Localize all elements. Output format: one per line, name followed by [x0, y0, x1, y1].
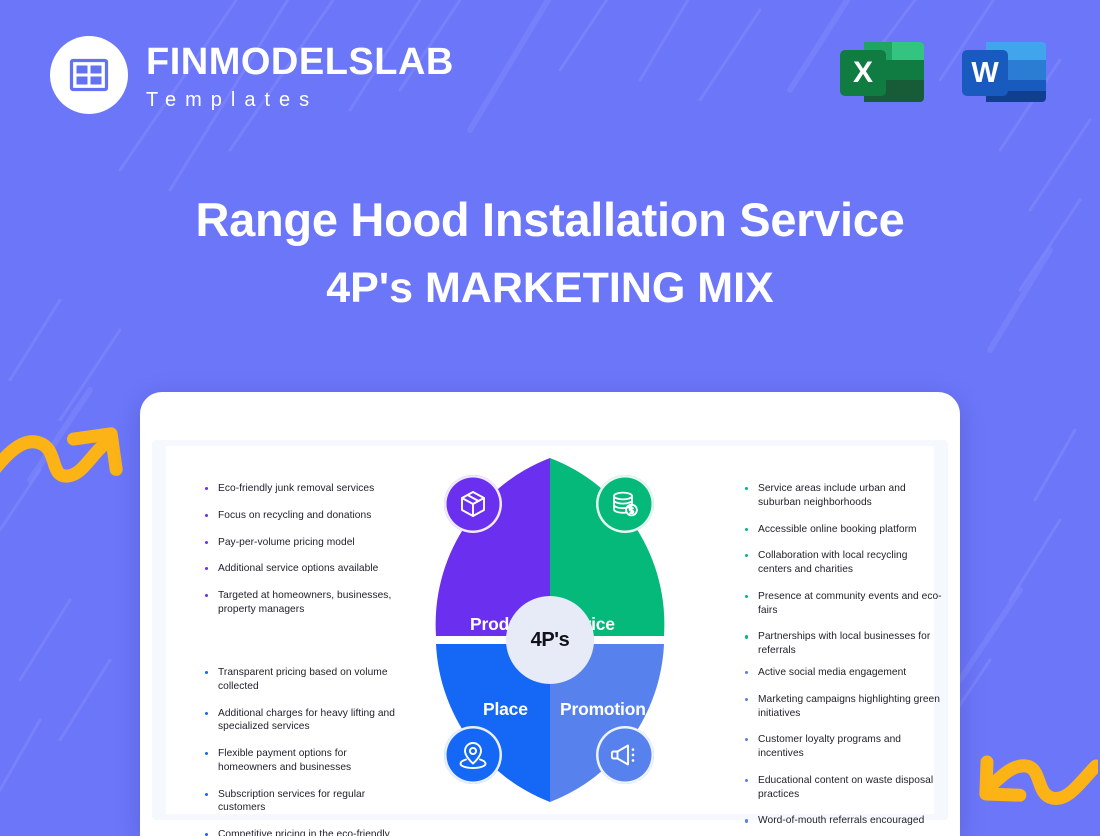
list-item: Additional service options available: [204, 562, 404, 576]
list-item: Focus on recycling and donations: [204, 509, 404, 523]
page-subtitle: 4P's MARKETING MIX: [0, 263, 1100, 314]
word-icon: W: [956, 28, 1052, 120]
excel-icon: X: [834, 28, 930, 120]
page-title: Range Hood Installation Service: [0, 192, 1100, 247]
list-item: Active social media engagement: [744, 666, 944, 680]
list-item: Customer loyalty programs and incentives: [744, 733, 944, 761]
package-box-icon: [444, 475, 502, 533]
list-item: Competitive pricing in the eco-friendly …: [204, 828, 404, 836]
bullet-list-price: Service areas include urban and suburban…: [744, 482, 944, 671]
squiggle-arrow-up-right-icon: [0, 404, 124, 494]
diagram-panel-inner: Eco-friendly junk removal services Focus…: [166, 446, 934, 814]
squiggle-arrow-down-left-icon: [972, 744, 1098, 830]
list-item: Subscription services for regular custom…: [204, 788, 404, 816]
location-pin-icon: [444, 726, 502, 784]
list-item: Partnerships with local businesses for r…: [744, 630, 944, 658]
bullet-list-promotion: Active social media engagement Marketing…: [744, 666, 944, 836]
list-item: Targeted at homeowners, businesses, prop…: [204, 589, 404, 617]
svg-text:X: X: [853, 56, 873, 89]
list-item: Service areas include urban and suburban…: [744, 482, 944, 510]
wheel-label-promotion: Promotion: [560, 699, 646, 720]
list-item: Pay-per-volume pricing model: [204, 536, 404, 550]
diagram-panel: Eco-friendly junk removal services Focus…: [152, 440, 948, 820]
list-item: Additional charges for heavy lifting and…: [204, 707, 404, 735]
list-item: Eco-friendly junk removal services: [204, 482, 404, 496]
bullet-list-place: Transparent pricing based on volume coll…: [204, 666, 404, 836]
page-header: FINMODELSLAB Templates X W: [0, 0, 1100, 150]
list-item: Word-of-mouth referrals encouraged: [744, 814, 944, 828]
list-item: Marketing campaigns highlighting green i…: [744, 693, 944, 721]
list-item: Accessible online booking platform: [744, 523, 944, 537]
wheel-center-hub: 4P's: [506, 596, 594, 684]
svg-text:W: W: [971, 57, 999, 89]
office-format-icons: X W: [834, 28, 1052, 120]
list-item: Flexible payment options for homeowners …: [204, 747, 404, 775]
list-item: Presence at community events and eco-fai…: [744, 590, 944, 618]
list-item: Educational content on waste disposal pr…: [744, 774, 944, 802]
coin-stack-dollar-icon: [596, 475, 654, 533]
wheel-center-label: 4P's: [531, 629, 570, 652]
grid-logo-icon: [50, 36, 128, 114]
four-ps-wheel: Product Price Place Promotion: [430, 450, 670, 810]
list-item: Collaboration with local recycling cente…: [744, 549, 944, 577]
bullet-list-product: Eco-friendly junk removal services Focus…: [204, 482, 404, 630]
brand-subtitle: Templates: [146, 90, 454, 110]
wheel-label-place: Place: [483, 699, 528, 720]
title-block: Range Hood Installation Service 4P's MAR…: [0, 192, 1100, 314]
content-card: Eco-friendly junk removal services Focus…: [140, 392, 960, 836]
list-item: Transparent pricing based on volume coll…: [204, 666, 404, 694]
megaphone-icon: [596, 726, 654, 784]
brand-name: FINMODELSLAB: [146, 43, 454, 81]
brand-logo: FINMODELSLAB Templates: [50, 36, 454, 114]
